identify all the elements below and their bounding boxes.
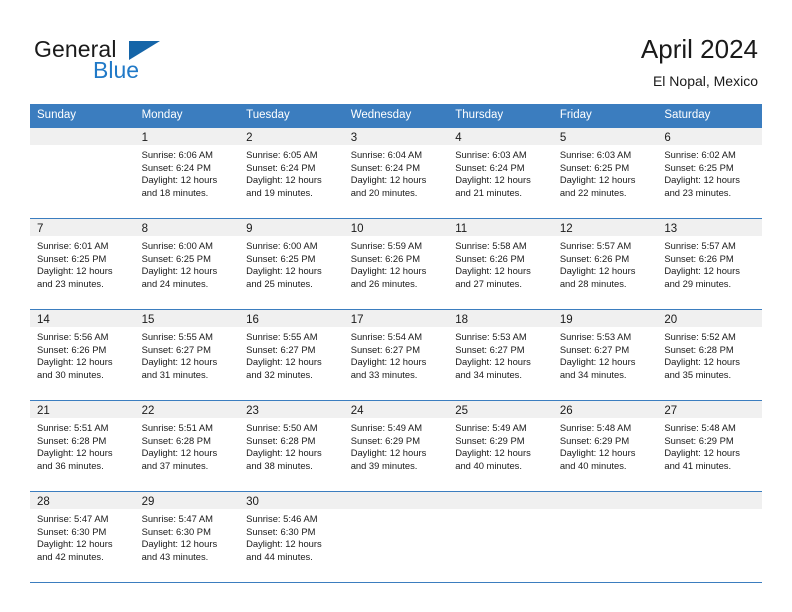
day-detail-line: and 29 minutes. xyxy=(664,278,757,291)
day-cell-empty xyxy=(657,492,762,582)
day-number: 11 xyxy=(455,223,467,235)
day-details: Sunrise: 5:57 AMSunset: 6:26 PMDaylight:… xyxy=(553,236,658,290)
day-number: 25 xyxy=(455,405,468,417)
day-number-band: 23 xyxy=(239,401,344,418)
day-details: Sunrise: 6:03 AMSunset: 6:25 PMDaylight:… xyxy=(553,145,658,199)
day-number-band: 1 xyxy=(135,128,240,145)
day-number-band: 24 xyxy=(344,401,449,418)
day-detail-line: Sunrise: 6:04 AM xyxy=(351,149,444,162)
calendar-page: General Blue April 2024 El Nopal, Mexico… xyxy=(0,0,792,612)
day-number-band xyxy=(553,492,658,509)
day-number-band xyxy=(30,128,135,145)
calendar-bottom-border xyxy=(30,582,762,583)
day-details: Sunrise: 5:49 AMSunset: 6:29 PMDaylight:… xyxy=(448,418,553,472)
day-detail-line: Sunrise: 5:53 AM xyxy=(560,331,653,344)
day-detail-line: and 33 minutes. xyxy=(351,369,444,382)
day-detail-line: and 41 minutes. xyxy=(664,460,757,473)
day-number-band: 18 xyxy=(448,310,553,327)
day-detail-line: Sunrise: 6:02 AM xyxy=(664,149,757,162)
day-cell[interactable]: 7Sunrise: 6:01 AMSunset: 6:25 PMDaylight… xyxy=(30,219,135,309)
day-detail-line: Sunrise: 5:47 AM xyxy=(142,513,235,526)
day-detail-line: and 34 minutes. xyxy=(560,369,653,382)
day-number-band: 13 xyxy=(657,219,762,236)
day-number: 15 xyxy=(142,314,155,326)
week-row: 14Sunrise: 5:56 AMSunset: 6:26 PMDayligh… xyxy=(30,309,762,400)
day-cell[interactable]: 22Sunrise: 5:51 AMSunset: 6:28 PMDayligh… xyxy=(135,401,240,491)
day-detail-line: Sunset: 6:28 PM xyxy=(37,435,130,448)
day-detail-line: and 40 minutes. xyxy=(560,460,653,473)
day-detail-line: and 20 minutes. xyxy=(351,187,444,200)
day-number-band: 28 xyxy=(30,492,135,509)
day-detail-line: Sunrise: 5:55 AM xyxy=(142,331,235,344)
day-number: 7 xyxy=(37,223,43,235)
day-detail-line: Sunset: 6:27 PM xyxy=(560,344,653,357)
day-number-band: 30 xyxy=(239,492,344,509)
day-detail-line: and 21 minutes. xyxy=(455,187,548,200)
day-detail-line: Sunrise: 5:54 AM xyxy=(351,331,444,344)
day-detail-line: Sunrise: 5:57 AM xyxy=(560,240,653,253)
day-details: Sunrise: 5:48 AMSunset: 6:29 PMDaylight:… xyxy=(657,418,762,472)
day-details: Sunrise: 5:54 AMSunset: 6:27 PMDaylight:… xyxy=(344,327,449,381)
day-detail-line: Daylight: 12 hours xyxy=(37,447,130,460)
day-number-band xyxy=(448,492,553,509)
day-detail-line: Daylight: 12 hours xyxy=(455,174,548,187)
day-details: Sunrise: 5:47 AMSunset: 6:30 PMDaylight:… xyxy=(135,509,240,563)
day-detail-line: Daylight: 12 hours xyxy=(142,174,235,187)
day-number: 24 xyxy=(351,405,364,417)
day-detail-line: Sunrise: 5:59 AM xyxy=(351,240,444,253)
day-cell[interactable]: 18Sunrise: 5:53 AMSunset: 6:27 PMDayligh… xyxy=(448,310,553,400)
day-number: 18 xyxy=(455,314,468,326)
day-detail-line: Sunrise: 5:58 AM xyxy=(455,240,548,253)
day-detail-line: Daylight: 12 hours xyxy=(351,265,444,278)
day-cell[interactable]: 13Sunrise: 5:57 AMSunset: 6:26 PMDayligh… xyxy=(657,219,762,309)
day-detail-line: Sunset: 6:29 PM xyxy=(351,435,444,448)
day-cell[interactable]: 12Sunrise: 5:57 AMSunset: 6:26 PMDayligh… xyxy=(553,219,658,309)
day-detail-line: Daylight: 12 hours xyxy=(664,174,757,187)
day-detail-line: Sunrise: 5:50 AM xyxy=(246,422,339,435)
day-number-band: 21 xyxy=(30,401,135,418)
weekday-header-thursday: Thursday xyxy=(448,104,553,128)
day-number-band: 4 xyxy=(448,128,553,145)
day-detail-line: Sunset: 6:30 PM xyxy=(142,526,235,539)
day-number-band: 26 xyxy=(553,401,658,418)
day-detail-line: and 36 minutes. xyxy=(37,460,130,473)
day-cell[interactable]: 2Sunrise: 6:05 AMSunset: 6:24 PMDaylight… xyxy=(239,128,344,218)
day-detail-line: Sunset: 6:29 PM xyxy=(560,435,653,448)
day-cell[interactable]: 20Sunrise: 5:52 AMSunset: 6:28 PMDayligh… xyxy=(657,310,762,400)
weekday-header-wednesday: Wednesday xyxy=(344,104,449,128)
day-cell[interactable]: 29Sunrise: 5:47 AMSunset: 6:30 PMDayligh… xyxy=(135,492,240,582)
day-detail-line: Daylight: 12 hours xyxy=(37,538,130,551)
day-detail-line: Sunset: 6:24 PM xyxy=(455,162,548,175)
day-cell[interactable]: 3Sunrise: 6:04 AMSunset: 6:24 PMDaylight… xyxy=(344,128,449,218)
day-detail-line: and 44 minutes. xyxy=(246,551,339,564)
day-detail-line: Daylight: 12 hours xyxy=(455,447,548,460)
day-number: 21 xyxy=(37,405,50,417)
page-subtitle: El Nopal, Mexico xyxy=(641,71,758,91)
page-header: General Blue April 2024 El Nopal, Mexico xyxy=(0,0,792,100)
weekday-header-friday: Friday xyxy=(553,104,658,128)
day-detail-line: Sunrise: 5:47 AM xyxy=(37,513,130,526)
day-number: 10 xyxy=(351,223,364,235)
day-details: Sunrise: 6:04 AMSunset: 6:24 PMDaylight:… xyxy=(344,145,449,199)
day-detail-line: Sunset: 6:30 PM xyxy=(246,526,339,539)
day-number-band: 19 xyxy=(553,310,658,327)
day-detail-line: Sunset: 6:26 PM xyxy=(351,253,444,266)
day-cell[interactable]: 27Sunrise: 5:48 AMSunset: 6:29 PMDayligh… xyxy=(657,401,762,491)
day-number-band: 22 xyxy=(135,401,240,418)
week-row: 1Sunrise: 6:06 AMSunset: 6:24 PMDaylight… xyxy=(30,128,762,218)
weekday-header-sunday: Sunday xyxy=(30,104,135,128)
day-detail-line: Sunset: 6:26 PM xyxy=(455,253,548,266)
day-detail-line: Sunrise: 6:00 AM xyxy=(142,240,235,253)
day-details: Sunrise: 6:01 AMSunset: 6:25 PMDaylight:… xyxy=(30,236,135,290)
day-details: Sunrise: 5:58 AMSunset: 6:26 PMDaylight:… xyxy=(448,236,553,290)
day-number: 22 xyxy=(142,405,155,417)
day-detail-line: Daylight: 12 hours xyxy=(351,447,444,460)
day-details: Sunrise: 5:59 AMSunset: 6:26 PMDaylight:… xyxy=(344,236,449,290)
day-detail-line: Sunrise: 6:03 AM xyxy=(455,149,548,162)
day-detail-line: Daylight: 12 hours xyxy=(664,447,757,460)
day-detail-line: Sunset: 6:26 PM xyxy=(664,253,757,266)
day-detail-line: and 32 minutes. xyxy=(246,369,339,382)
day-detail-line: Sunset: 6:28 PM xyxy=(142,435,235,448)
day-number-band: 7 xyxy=(30,219,135,236)
day-details: Sunrise: 5:46 AMSunset: 6:30 PMDaylight:… xyxy=(239,509,344,563)
day-detail-line: Sunrise: 5:48 AM xyxy=(560,422,653,435)
day-details: Sunrise: 5:56 AMSunset: 6:26 PMDaylight:… xyxy=(30,327,135,381)
day-number-band: 10 xyxy=(344,219,449,236)
day-detail-line: and 39 minutes. xyxy=(351,460,444,473)
day-detail-line: Sunset: 6:26 PM xyxy=(37,344,130,357)
day-detail-line: Daylight: 12 hours xyxy=(37,265,130,278)
day-detail-line: Sunrise: 5:48 AM xyxy=(664,422,757,435)
day-detail-line: Daylight: 12 hours xyxy=(246,265,339,278)
day-number: 6 xyxy=(664,132,670,144)
day-details: Sunrise: 5:57 AMSunset: 6:26 PMDaylight:… xyxy=(657,236,762,290)
day-details: Sunrise: 6:06 AMSunset: 6:24 PMDaylight:… xyxy=(135,145,240,199)
day-details xyxy=(344,509,449,513)
week-row: 28Sunrise: 5:47 AMSunset: 6:30 PMDayligh… xyxy=(30,491,762,582)
day-detail-line: Sunrise: 5:51 AM xyxy=(37,422,130,435)
day-detail-line: Daylight: 12 hours xyxy=(455,356,548,369)
day-detail-line: Sunset: 6:26 PM xyxy=(560,253,653,266)
day-details: Sunrise: 5:51 AMSunset: 6:28 PMDaylight:… xyxy=(30,418,135,472)
day-details: Sunrise: 5:55 AMSunset: 6:27 PMDaylight:… xyxy=(135,327,240,381)
day-detail-line: and 23 minutes. xyxy=(664,187,757,200)
day-detail-line: Sunset: 6:25 PM xyxy=(142,253,235,266)
day-details: Sunrise: 5:53 AMSunset: 6:27 PMDaylight:… xyxy=(553,327,658,381)
day-detail-line: Sunrise: 5:57 AM xyxy=(664,240,757,253)
day-detail-line: and 27 minutes. xyxy=(455,278,548,291)
weekday-header-row: SundayMondayTuesdayWednesdayThursdayFrid… xyxy=(30,104,762,128)
day-detail-line: Sunset: 6:24 PM xyxy=(142,162,235,175)
day-detail-line: and 22 minutes. xyxy=(560,187,653,200)
day-number: 29 xyxy=(142,496,155,508)
day-number: 28 xyxy=(37,496,50,508)
day-cell[interactable]: 16Sunrise: 5:55 AMSunset: 6:27 PMDayligh… xyxy=(239,310,344,400)
day-detail-line: and 42 minutes. xyxy=(37,551,130,564)
day-number: 12 xyxy=(560,223,573,235)
day-details: Sunrise: 6:00 AMSunset: 6:25 PMDaylight:… xyxy=(239,236,344,290)
day-number-band: 16 xyxy=(239,310,344,327)
day-detail-line: Sunset: 6:29 PM xyxy=(664,435,757,448)
day-number-band: 6 xyxy=(657,128,762,145)
day-detail-line: Sunset: 6:24 PM xyxy=(351,162,444,175)
day-detail-line: Sunset: 6:24 PM xyxy=(246,162,339,175)
day-detail-line: Sunrise: 5:52 AM xyxy=(664,331,757,344)
day-detail-line: Sunset: 6:29 PM xyxy=(455,435,548,448)
day-details xyxy=(657,509,762,513)
day-detail-line: and 23 minutes. xyxy=(37,278,130,291)
day-cell[interactable]: 19Sunrise: 5:53 AMSunset: 6:27 PMDayligh… xyxy=(553,310,658,400)
day-cell[interactable]: 14Sunrise: 5:56 AMSunset: 6:26 PMDayligh… xyxy=(30,310,135,400)
day-cell-empty xyxy=(344,492,449,582)
day-detail-line: and 40 minutes. xyxy=(455,460,548,473)
day-cell[interactable]: 23Sunrise: 5:50 AMSunset: 6:28 PMDayligh… xyxy=(239,401,344,491)
day-detail-line: Daylight: 12 hours xyxy=(246,174,339,187)
day-details: Sunrise: 5:52 AMSunset: 6:28 PMDaylight:… xyxy=(657,327,762,381)
day-cell[interactable]: 1Sunrise: 6:06 AMSunset: 6:24 PMDaylight… xyxy=(135,128,240,218)
day-number-band: 12 xyxy=(553,219,658,236)
day-detail-line: Sunrise: 5:49 AM xyxy=(351,422,444,435)
day-number-band: 20 xyxy=(657,310,762,327)
day-cell[interactable]: 15Sunrise: 5:55 AMSunset: 6:27 PMDayligh… xyxy=(135,310,240,400)
day-number-band: 2 xyxy=(239,128,344,145)
day-detail-line: Sunset: 6:25 PM xyxy=(246,253,339,266)
day-number-band xyxy=(657,492,762,509)
day-detail-line: Daylight: 12 hours xyxy=(246,538,339,551)
day-detail-line: and 30 minutes. xyxy=(37,369,130,382)
day-detail-line: Sunset: 6:28 PM xyxy=(246,435,339,448)
day-number: 9 xyxy=(246,223,252,235)
day-detail-line: Daylight: 12 hours xyxy=(142,265,235,278)
day-number: 20 xyxy=(664,314,677,326)
day-detail-line: Daylight: 12 hours xyxy=(246,356,339,369)
page-title: April 2024 xyxy=(641,33,758,65)
day-number: 5 xyxy=(560,132,566,144)
day-number-band: 14 xyxy=(30,310,135,327)
day-cell[interactable]: 6Sunrise: 6:02 AMSunset: 6:25 PMDaylight… xyxy=(657,128,762,218)
day-number-band: 9 xyxy=(239,219,344,236)
day-details: Sunrise: 5:47 AMSunset: 6:30 PMDaylight:… xyxy=(30,509,135,563)
day-number-band: 11 xyxy=(448,219,553,236)
day-detail-line: Sunset: 6:27 PM xyxy=(351,344,444,357)
day-detail-line: and 43 minutes. xyxy=(142,551,235,564)
day-number-band: 15 xyxy=(135,310,240,327)
day-cell[interactable]: 21Sunrise: 5:51 AMSunset: 6:28 PMDayligh… xyxy=(30,401,135,491)
weekday-header-tuesday: Tuesday xyxy=(239,104,344,128)
day-details: Sunrise: 5:55 AMSunset: 6:27 PMDaylight:… xyxy=(239,327,344,381)
day-detail-line: and 38 minutes. xyxy=(246,460,339,473)
day-detail-line: Daylight: 12 hours xyxy=(560,447,653,460)
day-details: Sunrise: 6:02 AMSunset: 6:25 PMDaylight:… xyxy=(657,145,762,199)
day-details xyxy=(553,509,658,513)
day-details: Sunrise: 6:05 AMSunset: 6:24 PMDaylight:… xyxy=(239,145,344,199)
day-detail-line: Daylight: 12 hours xyxy=(142,538,235,551)
day-cell[interactable]: 30Sunrise: 5:46 AMSunset: 6:30 PMDayligh… xyxy=(239,492,344,582)
day-detail-line: Sunrise: 5:51 AM xyxy=(142,422,235,435)
day-detail-line: and 24 minutes. xyxy=(142,278,235,291)
day-cell[interactable]: 11Sunrise: 5:58 AMSunset: 6:26 PMDayligh… xyxy=(448,219,553,309)
day-details: Sunrise: 5:53 AMSunset: 6:27 PMDaylight:… xyxy=(448,327,553,381)
day-detail-line: Daylight: 12 hours xyxy=(560,174,653,187)
day-number-band: 25 xyxy=(448,401,553,418)
day-detail-line: and 28 minutes. xyxy=(560,278,653,291)
day-number: 23 xyxy=(246,405,259,417)
day-detail-line: Daylight: 12 hours xyxy=(664,356,757,369)
day-detail-line: Sunrise: 6:03 AM xyxy=(560,149,653,162)
day-detail-line: and 34 minutes. xyxy=(455,369,548,382)
day-cell-empty xyxy=(553,492,658,582)
day-details: Sunrise: 5:49 AMSunset: 6:29 PMDaylight:… xyxy=(344,418,449,472)
day-detail-line: Sunset: 6:28 PM xyxy=(664,344,757,357)
day-cell[interactable]: 5Sunrise: 6:03 AMSunset: 6:25 PMDaylight… xyxy=(553,128,658,218)
calendar-table: SundayMondayTuesdayWednesdayThursdayFrid… xyxy=(30,104,762,583)
day-cell[interactable]: 26Sunrise: 5:48 AMSunset: 6:29 PMDayligh… xyxy=(553,401,658,491)
day-detail-line: and 25 minutes. xyxy=(246,278,339,291)
day-details xyxy=(30,145,135,149)
day-detail-line: Sunrise: 5:56 AM xyxy=(37,331,130,344)
calendar-weeks: 1Sunrise: 6:06 AMSunset: 6:24 PMDaylight… xyxy=(30,128,762,582)
day-details: Sunrise: 5:50 AMSunset: 6:28 PMDaylight:… xyxy=(239,418,344,472)
weekday-header-saturday: Saturday xyxy=(657,104,762,128)
day-detail-line: Sunrise: 6:01 AM xyxy=(37,240,130,253)
day-detail-line: and 26 minutes. xyxy=(351,278,444,291)
day-detail-line: Sunset: 6:27 PM xyxy=(142,344,235,357)
day-detail-line: and 35 minutes. xyxy=(664,369,757,382)
day-number: 13 xyxy=(664,223,677,235)
day-detail-line: Sunrise: 5:49 AM xyxy=(455,422,548,435)
week-row: 7Sunrise: 6:01 AMSunset: 6:25 PMDaylight… xyxy=(30,218,762,309)
logo-text-blue: Blue xyxy=(93,57,139,83)
day-details: Sunrise: 5:51 AMSunset: 6:28 PMDaylight:… xyxy=(135,418,240,472)
day-cell-empty xyxy=(448,492,553,582)
title-block: April 2024 El Nopal, Mexico xyxy=(641,33,758,91)
day-number: 8 xyxy=(142,223,148,235)
day-number: 4 xyxy=(455,132,461,144)
day-detail-line: Sunset: 6:25 PM xyxy=(37,253,130,266)
day-cell[interactable]: 28Sunrise: 5:47 AMSunset: 6:30 PMDayligh… xyxy=(30,492,135,582)
day-detail-line: Daylight: 12 hours xyxy=(560,265,653,278)
day-detail-line: Daylight: 12 hours xyxy=(351,174,444,187)
day-number-band: 5 xyxy=(553,128,658,145)
day-details: Sunrise: 5:48 AMSunset: 6:29 PMDaylight:… xyxy=(553,418,658,472)
day-cell[interactable]: 25Sunrise: 5:49 AMSunset: 6:29 PMDayligh… xyxy=(448,401,553,491)
day-number-band: 29 xyxy=(135,492,240,509)
day-detail-line: Sunset: 6:30 PM xyxy=(37,526,130,539)
day-detail-line: Sunset: 6:25 PM xyxy=(560,162,653,175)
day-detail-line: Daylight: 12 hours xyxy=(37,356,130,369)
day-detail-line: Daylight: 12 hours xyxy=(246,447,339,460)
day-cell-empty xyxy=(30,128,135,218)
day-cell[interactable]: 10Sunrise: 5:59 AMSunset: 6:26 PMDayligh… xyxy=(344,219,449,309)
day-detail-line: Sunset: 6:27 PM xyxy=(246,344,339,357)
day-number-band: 3 xyxy=(344,128,449,145)
day-number: 26 xyxy=(560,405,573,417)
day-cell[interactable]: 9Sunrise: 6:00 AMSunset: 6:25 PMDaylight… xyxy=(239,219,344,309)
day-detail-line: and 31 minutes. xyxy=(142,369,235,382)
day-detail-line: Daylight: 12 hours xyxy=(142,356,235,369)
day-number: 30 xyxy=(246,496,259,508)
day-detail-line: Sunrise: 6:00 AM xyxy=(246,240,339,253)
day-detail-line: Daylight: 12 hours xyxy=(142,447,235,460)
day-details: Sunrise: 6:03 AMSunset: 6:24 PMDaylight:… xyxy=(448,145,553,199)
day-number: 16 xyxy=(246,314,259,326)
day-detail-line: and 37 minutes. xyxy=(142,460,235,473)
day-detail-line: Sunrise: 5:53 AM xyxy=(455,331,548,344)
day-number: 27 xyxy=(664,405,677,417)
day-detail-line: Sunset: 6:27 PM xyxy=(455,344,548,357)
day-cell[interactable]: 8Sunrise: 6:00 AMSunset: 6:25 PMDaylight… xyxy=(135,219,240,309)
day-number-band: 27 xyxy=(657,401,762,418)
day-number-band xyxy=(344,492,449,509)
day-cell[interactable]: 24Sunrise: 5:49 AMSunset: 6:29 PMDayligh… xyxy=(344,401,449,491)
day-details xyxy=(448,509,553,513)
day-number: 19 xyxy=(560,314,573,326)
day-detail-line: Sunset: 6:25 PM xyxy=(664,162,757,175)
day-detail-line: Sunrise: 5:55 AM xyxy=(246,331,339,344)
day-detail-line: Sunrise: 6:05 AM xyxy=(246,149,339,162)
general-blue-logo[interactable]: General Blue xyxy=(34,36,264,88)
day-detail-line: Daylight: 12 hours xyxy=(560,356,653,369)
day-detail-line: Daylight: 12 hours xyxy=(455,265,548,278)
day-cell[interactable]: 17Sunrise: 5:54 AMSunset: 6:27 PMDayligh… xyxy=(344,310,449,400)
day-number-band: 17 xyxy=(344,310,449,327)
day-details: Sunrise: 6:00 AMSunset: 6:25 PMDaylight:… xyxy=(135,236,240,290)
day-cell[interactable]: 4Sunrise: 6:03 AMSunset: 6:24 PMDaylight… xyxy=(448,128,553,218)
day-detail-line: Sunrise: 5:46 AM xyxy=(246,513,339,526)
day-number-band: 8 xyxy=(135,219,240,236)
day-detail-line: and 18 minutes. xyxy=(142,187,235,200)
day-detail-line: Daylight: 12 hours xyxy=(351,356,444,369)
day-number: 2 xyxy=(246,132,252,144)
day-number: 14 xyxy=(37,314,50,326)
day-number: 1 xyxy=(142,132,148,144)
day-detail-line: and 19 minutes. xyxy=(246,187,339,200)
day-detail-line: Daylight: 12 hours xyxy=(664,265,757,278)
day-number: 3 xyxy=(351,132,357,144)
day-detail-line: Sunrise: 6:06 AM xyxy=(142,149,235,162)
day-number: 17 xyxy=(351,314,364,326)
week-row: 21Sunrise: 5:51 AMSunset: 6:28 PMDayligh… xyxy=(30,400,762,491)
weekday-header-monday: Monday xyxy=(135,104,240,128)
